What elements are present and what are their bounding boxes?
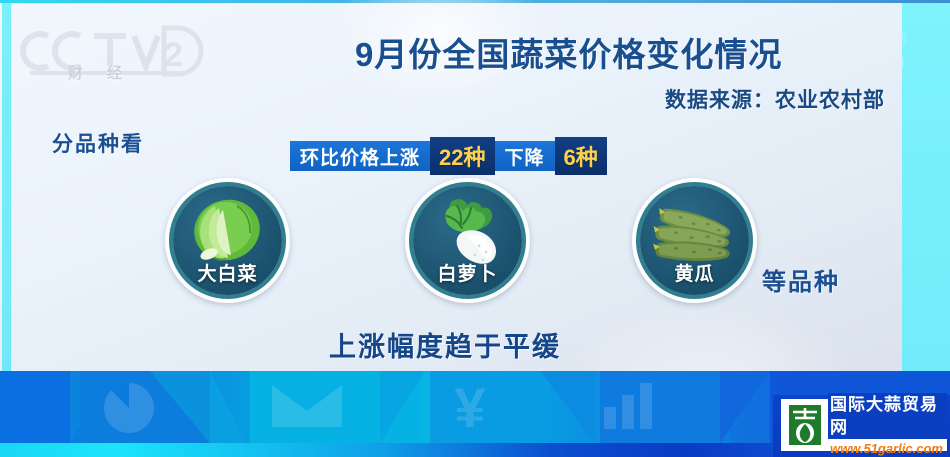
price-fall-value: 6种 xyxy=(555,137,607,175)
data-source-note: 数据来源：农业农村部 xyxy=(355,84,885,114)
conclusion-text: 上涨幅度趋于平缓 xyxy=(0,325,950,364)
badge-disc: 黄瓜 xyxy=(640,186,749,295)
badge-disc: 大白菜 xyxy=(173,186,282,295)
page-title: 9月份全国蔬菜价格变化情况 xyxy=(355,28,885,76)
cabbage-icon xyxy=(173,190,282,270)
garlic-site-name: 国际大蒜贸易网 xyxy=(828,393,947,439)
variety-badge-cabbage: 大白菜 xyxy=(165,178,290,303)
garlic-site-watermark[interactable]: 国际大蒜贸易网 www.51garlic.com xyxy=(781,399,947,451)
price-fall-label: 下降 xyxy=(495,141,555,171)
band-shape xyxy=(720,371,770,443)
garlic-site-url[interactable]: www.51garlic.com xyxy=(828,439,947,457)
section-label: 分品种看 xyxy=(52,128,144,158)
yen-currency-icon: ¥ xyxy=(445,377,495,437)
cctv2-channel-name: 财 经 xyxy=(40,62,160,83)
etc-label: 等品种 xyxy=(762,262,840,297)
variety-badge-cucumber: 黄瓜 xyxy=(632,178,757,303)
variety-name: 大白菜 xyxy=(173,259,282,286)
envelope-icon xyxy=(270,381,344,431)
variety-badge-radish: 白萝卜 xyxy=(405,178,530,303)
top-accent-rule xyxy=(0,0,950,3)
pie-chart-icon xyxy=(100,379,158,437)
variety-name: 黄瓜 xyxy=(640,259,749,286)
band-shape xyxy=(0,371,70,443)
price-rise-label: 环比价格上涨 xyxy=(290,141,430,171)
badge-disc: 白萝卜 xyxy=(413,186,522,295)
svg-text:2: 2 xyxy=(164,36,183,74)
band-shape xyxy=(150,371,210,443)
garlic-icon xyxy=(785,403,825,447)
broadcast-graphic: 2 财 经 央视网 cctv.com 9月份全国蔬菜价格变化情况 数据来源：农业… xyxy=(0,0,950,457)
band-shape xyxy=(540,371,595,443)
band-shape xyxy=(380,371,425,443)
cucumber-icon xyxy=(640,190,749,270)
radish-icon xyxy=(413,190,522,270)
variety-name: 白萝卜 xyxy=(413,259,522,286)
stat-badge-bar: 环比价格上涨 22种 下降 6种 xyxy=(290,141,607,171)
band-shape xyxy=(210,371,246,443)
bar-chart-icon xyxy=(600,381,658,431)
price-rise-value: 22种 xyxy=(430,137,494,175)
svg-text:¥: ¥ xyxy=(454,377,485,437)
garlic-watermark-text: 国际大蒜贸易网 www.51garlic.com xyxy=(825,393,947,457)
